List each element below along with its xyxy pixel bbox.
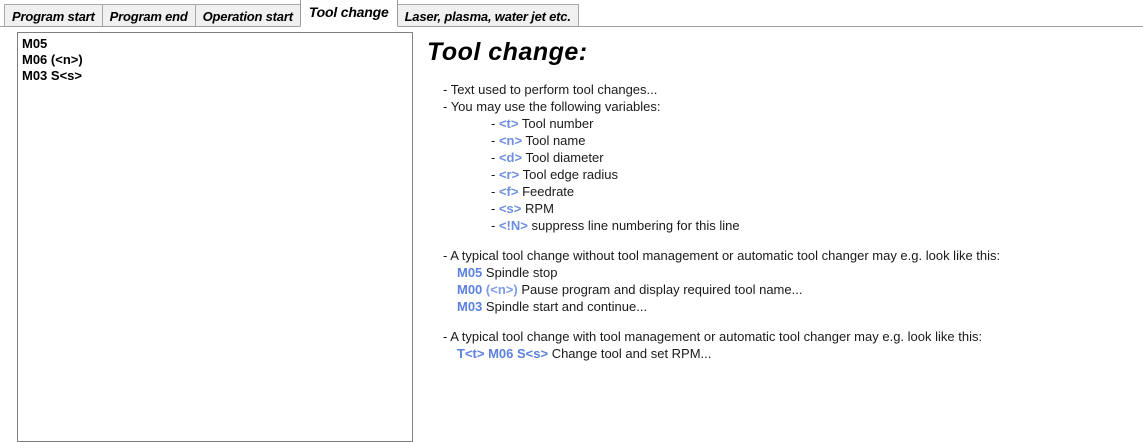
spacer-1 <box>419 234 1139 247</box>
tab-label: Program start <box>12 9 95 24</box>
variable-token: <d> <box>499 150 522 165</box>
example-code-token: T<t> M06 S<s> <box>457 346 548 361</box>
variable-token: <s> <box>499 201 521 216</box>
variable-token: <t> <box>499 116 519 131</box>
code-line: M03 S<s> <box>22 68 408 84</box>
help-variables-block: - <t> Tool number- <n> Tool name- <d> To… <box>419 115 1139 234</box>
variable-description: Tool name <box>525 133 585 148</box>
bullet-dash: - <box>491 201 495 216</box>
spacer-2 <box>419 315 1139 328</box>
help-intro-line: - You may use the following variables: <box>443 98 1139 115</box>
bullet-dash: - <box>491 150 495 165</box>
example-code-description: Pause program and display required tool … <box>521 282 802 297</box>
help-variable-row: - <f> Feedrate <box>491 183 1139 200</box>
help-variable-row: - <t> Tool number <box>491 115 1139 132</box>
code-line: M06 (<n>) <box>22 52 408 68</box>
tab-label: Tool change <box>309 4 389 20</box>
bullet-dash: - <box>491 184 495 199</box>
help-variable-row: - <!N> suppress line numbering for this … <box>491 217 1139 234</box>
help-variable-row: - <d> Tool diameter <box>491 149 1139 166</box>
bullet-dash: - <box>491 133 495 148</box>
variable-token: <f> <box>499 184 519 199</box>
content-area: M05M06 (<n>)M03 S<s> Tool change: - Text… <box>4 27 1139 442</box>
tab-tool-change[interactable]: Tool change <box>300 0 398 27</box>
variable-description: Tool diameter <box>525 150 603 165</box>
example-code-token: M00 <box>457 282 482 297</box>
example-code-description: Spindle stop <box>486 265 558 280</box>
help-panel: Tool change: - Text used to perform tool… <box>419 27 1139 442</box>
variable-token: <r> <box>499 167 519 182</box>
example-code-row: M00 (<n>) Pause program and display requ… <box>457 281 1139 298</box>
example-code-description: Change tool and set RPM... <box>552 346 712 361</box>
help-intro-block: - Text used to perform tool changes...- … <box>419 81 1139 115</box>
tabs-row: Program startProgram endOperation startT… <box>4 2 578 27</box>
help-body: - Text used to perform tool changes...- … <box>419 81 1139 362</box>
example-code-token: M05 <box>457 265 482 280</box>
variable-description: Tool number <box>522 116 594 131</box>
tab-label: Operation start <box>203 9 293 24</box>
tab-label: Laser, plasma, water jet etc. <box>405 9 571 24</box>
help-variable-row: - <r> Tool edge radius <box>491 166 1139 183</box>
bullet-dash: - <box>491 167 495 182</box>
variable-token: <n> <box>499 133 522 148</box>
help-variable-row: - <n> Tool name <box>491 132 1139 149</box>
bullet-dash: - <box>491 116 495 131</box>
example1-heading: - A typical tool change without tool man… <box>443 247 1139 264</box>
help-title: Tool change: <box>427 38 1139 67</box>
example-code-argument: (<n>) <box>486 282 518 297</box>
example2-lines: T<t> M06 S<s> Change tool and set RPM... <box>419 345 1139 362</box>
bullet-dash: - <box>491 218 495 233</box>
example-code-row: M05 Spindle stop <box>457 264 1139 281</box>
example2-heading: - A typical tool change with tool manage… <box>443 328 1139 345</box>
help-variable-row: - <s> RPM <box>491 200 1139 217</box>
code-editor-textarea[interactable]: M05M06 (<n>)M03 S<s> <box>17 32 413 442</box>
example-code-row: M03 Spindle start and continue... <box>457 298 1139 315</box>
variable-description: RPM <box>525 201 554 216</box>
variable-description: suppress line numbering for this line <box>532 218 740 233</box>
help-intro-line: - Text used to perform tool changes... <box>443 81 1139 98</box>
variable-description: Feedrate <box>522 184 574 199</box>
variable-description: Tool edge radius <box>523 167 618 182</box>
example-code-description: Spindle start and continue... <box>486 299 647 314</box>
example1-lines: M05 Spindle stopM00 (<n>) Pause program … <box>419 264 1139 315</box>
tab-label: Program end <box>110 9 188 24</box>
example-code-row: T<t> M06 S<s> Change tool and set RPM... <box>457 345 1139 362</box>
tab-strip: Program startProgram endOperation startT… <box>0 0 1143 27</box>
code-line: M05 <box>22 36 408 52</box>
example-code-token: M03 <box>457 299 482 314</box>
variable-token: <!N> <box>499 218 528 233</box>
